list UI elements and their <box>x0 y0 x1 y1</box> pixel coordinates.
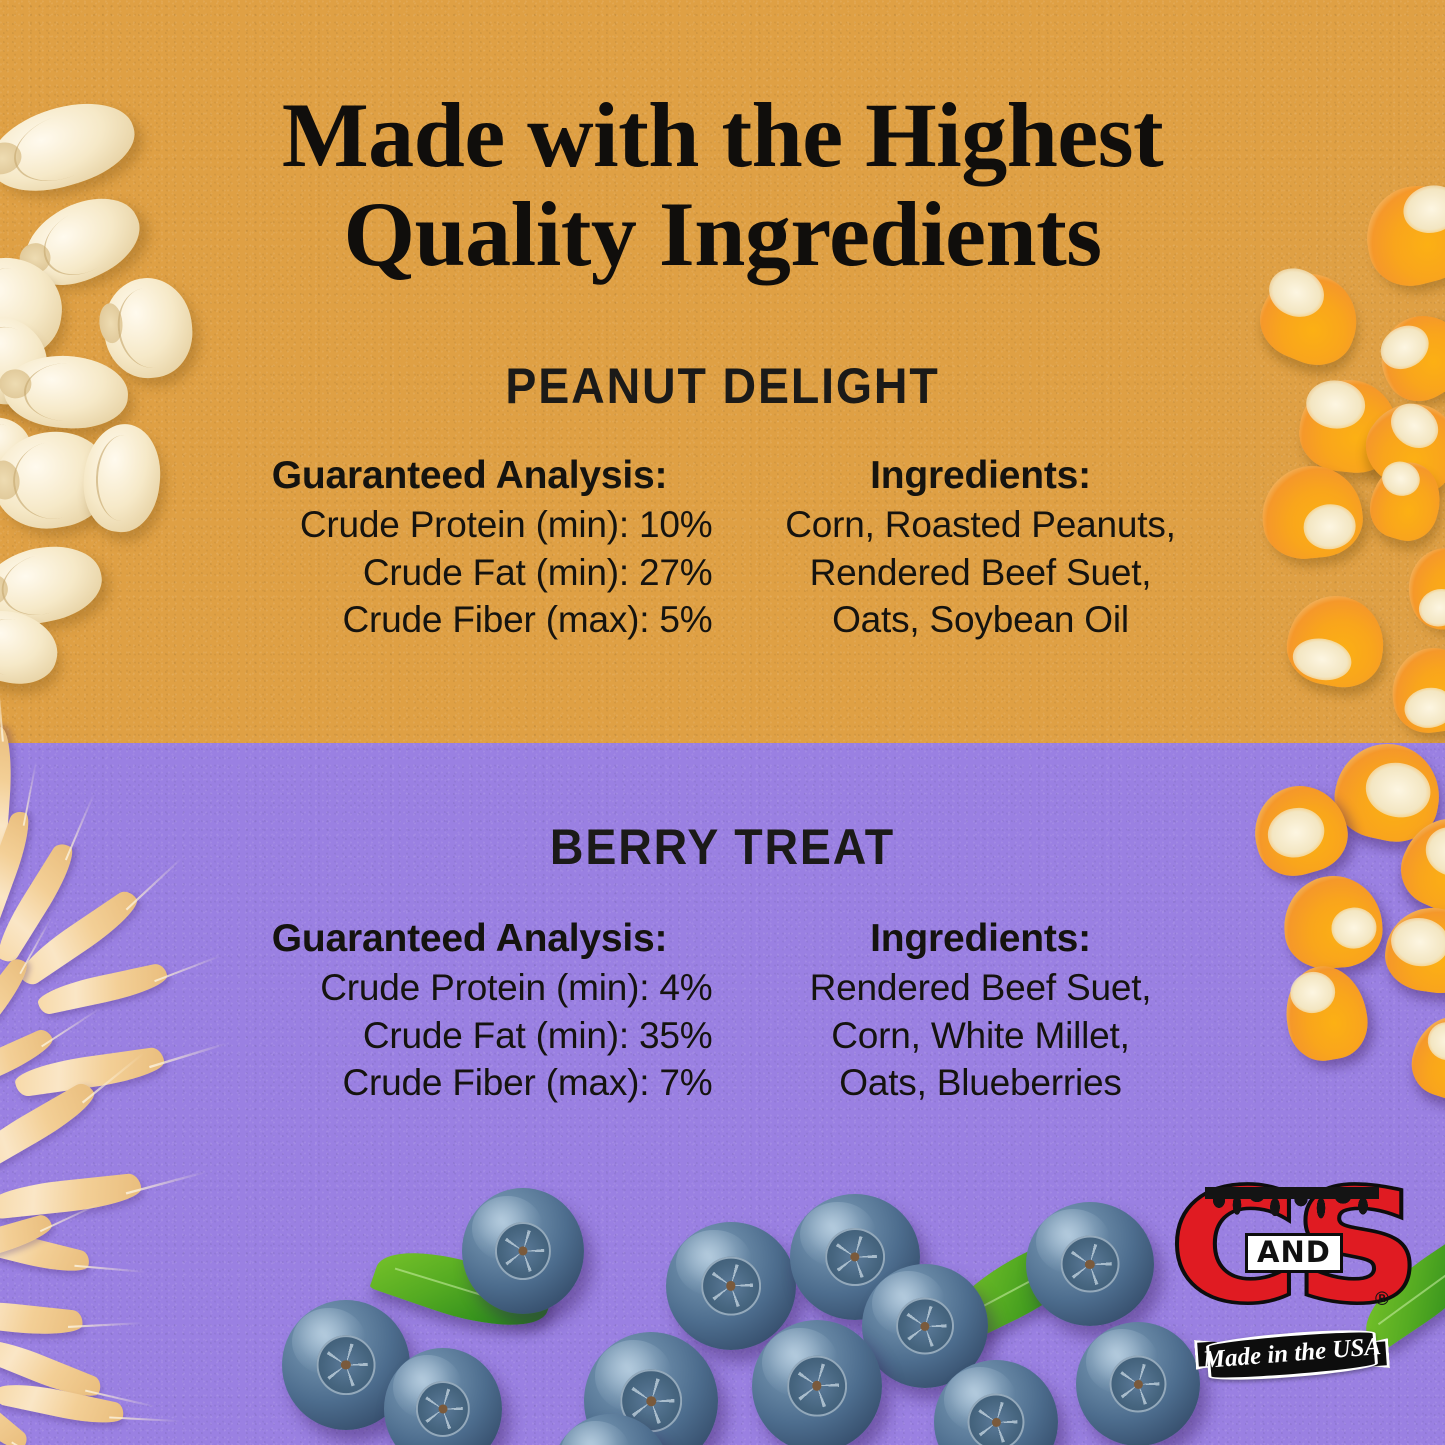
analysis-line-fat: Crude Fat (min): 27% <box>233 549 713 596</box>
ingredients-line-3: Oats, Blueberries <box>749 1059 1213 1106</box>
made-in-usa-banner: Made in the USA <box>1195 1323 1389 1387</box>
blueberry <box>1076 1322 1200 1445</box>
product-title-peanut-delight: PEANUT DELIGHT <box>51 357 1395 415</box>
oat-spikelet <box>0 1173 143 1220</box>
peanut-ingredients-column: Ingredients: Corn, Roasted Peanuts, Rend… <box>733 455 1213 643</box>
blueberry-crown <box>787 1356 847 1417</box>
berry-ingredients-column: Ingredients: Rendered Beef Suet, Corn, W… <box>733 918 1213 1106</box>
blueberry-crown <box>495 1222 551 1280</box>
analysis-line-protein: Crude Protein (min): 4% <box>233 964 713 1011</box>
product-title-berry-treat: BERRY TREAT <box>51 818 1395 876</box>
logo-and-badge: AND <box>1245 1233 1343 1273</box>
ingredients-heading: Ingredients: <box>749 455 1213 496</box>
blueberry <box>752 1320 882 1445</box>
ingredients-line-3: Oats, Soybean Oil <box>749 596 1213 643</box>
banner-text: Made in the USA <box>1202 1333 1382 1375</box>
corn-kernel-decoration <box>1387 643 1445 738</box>
peanut-delight-info: Guaranteed Analysis: Crude Protein (min)… <box>0 455 1445 643</box>
oat-sprigs-decoration <box>0 812 272 1445</box>
headline-line-2: Quality Ingredients <box>0 185 1445 284</box>
analysis-line-fiber: Crude Fiber (max): 7% <box>233 1059 713 1106</box>
blueberry-crown <box>416 1381 470 1437</box>
ingredients-line-2: Corn, White Millet, <box>749 1012 1213 1059</box>
registered-trademark-icon: ® <box>1375 1289 1389 1311</box>
berry-guaranteed-analysis-column: Guaranteed Analysis: Crude Protein (min)… <box>233 918 733 1106</box>
blueberry <box>462 1188 584 1314</box>
analysis-line-fiber: Crude Fiber (max): 5% <box>233 596 713 643</box>
peanut-guaranteed-analysis-column: Guaranteed Analysis: Crude Protein (min)… <box>233 455 733 643</box>
analysis-line-fat: Crude Fat (min): 35% <box>233 1012 713 1059</box>
blueberry-crown <box>825 1228 885 1286</box>
banner-ribbon: Made in the USA <box>1206 1326 1379 1383</box>
blueberry <box>1026 1202 1154 1326</box>
ingredients-line-1: Corn, Roasted Peanuts, <box>749 501 1213 548</box>
blueberry-crown <box>701 1257 761 1316</box>
berry-treat-info: Guaranteed Analysis: Crude Protein (min)… <box>0 918 1445 1106</box>
blueberry <box>666 1222 796 1350</box>
brand-logo-c-and-s: C S AND ® Made in the USA <box>1197 1183 1387 1395</box>
blueberry-crown <box>1109 1355 1166 1412</box>
analysis-heading: Guaranteed Analysis: <box>233 455 713 496</box>
oat-spikelet <box>0 1297 84 1339</box>
ingredients-line-1: Rendered Beef Suet, <box>749 964 1213 1011</box>
ingredients-heading: Ingredients: <box>749 918 1213 959</box>
page-headline: Made with the Highest Quality Ingredient… <box>0 86 1445 285</box>
blueberry-crown <box>317 1335 376 1395</box>
headline-line-1: Made with the Highest <box>0 86 1445 185</box>
blueberry-crown <box>1061 1235 1120 1292</box>
blueberry-crown <box>967 1393 1024 1445</box>
blueberry-crown <box>896 1297 954 1354</box>
ingredients-line-2: Rendered Beef Suet, <box>749 549 1213 596</box>
analysis-line-protein: Crude Protein (min): 10% <box>233 501 713 548</box>
analysis-heading: Guaranteed Analysis: <box>233 918 713 959</box>
